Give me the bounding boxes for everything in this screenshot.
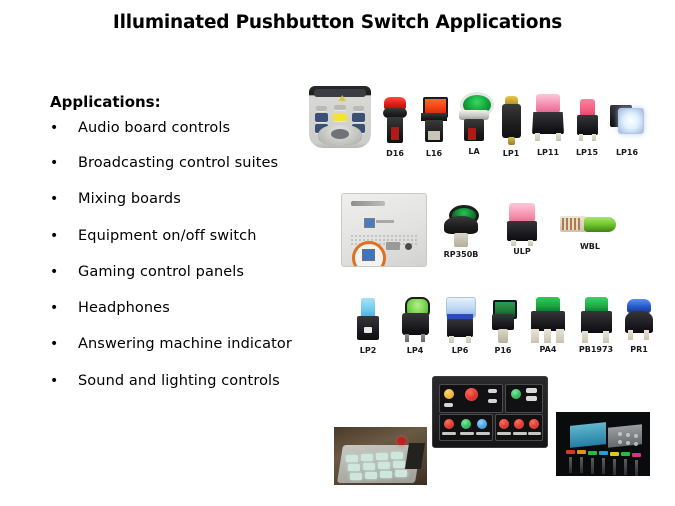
switch-terminal [579, 134, 583, 141]
switch-terminal [508, 137, 515, 145]
switch-terminal [556, 133, 561, 141]
switch-thread [498, 329, 508, 343]
keypad-key [393, 461, 405, 468]
list-item: • Gaming control panels [50, 263, 350, 299]
switch-terminal [556, 329, 564, 343]
mixer-knob [634, 442, 638, 446]
console-indicator [526, 396, 537, 401]
switch-body [444, 216, 478, 234]
console-label-strip [497, 432, 511, 435]
keypad-key [348, 464, 360, 471]
list-item-label: Broadcasting control suites [78, 154, 278, 172]
mixer-fader [635, 460, 638, 476]
mixer-channel-light [588, 451, 597, 455]
console-label-strip [460, 432, 474, 435]
wall-plate-photo [341, 193, 427, 267]
mixer-fader [602, 458, 605, 474]
remote-key [353, 106, 364, 111]
wall-plate-port [386, 242, 400, 250]
switch-cap [509, 203, 535, 222]
switch-body [532, 112, 564, 134]
console-lamp-amber [444, 389, 454, 399]
console-lamp-red [499, 419, 509, 429]
console-lamp-red [514, 419, 524, 429]
bullet-icon: • [50, 154, 60, 172]
product-label: LP15 [576, 148, 598, 157]
list-item: • Audio board controls [50, 119, 350, 154]
console-indicator [444, 403, 453, 407]
remote-top-strip [314, 89, 366, 97]
switch-body [502, 104, 521, 138]
product-figure: LP1 [498, 96, 524, 165]
keypad-key [346, 455, 358, 462]
mixer-channel-light [577, 450, 586, 454]
product-figure: LP4 [398, 297, 432, 358]
applications-list: • Audio board controls • Broadcasting co… [50, 119, 350, 408]
product-label: LP6 [452, 346, 469, 355]
product-label: PA4 [540, 345, 557, 354]
console-lamp-red-large [465, 388, 478, 401]
list-item: • Headphones [50, 299, 350, 335]
mixer-knob [634, 434, 638, 438]
mixer-fader [591, 458, 594, 474]
mixer-display [570, 422, 606, 448]
product-figure: LP6 [441, 297, 479, 358]
product-label: D16 [386, 149, 404, 158]
switch-terminal [644, 330, 649, 340]
mixer-fader [624, 459, 627, 475]
remote-key-highlighted [333, 113, 347, 121]
product-figure: LP2 [352, 298, 384, 358]
product-figure: D16 [380, 97, 410, 165]
console-indicator [488, 399, 497, 403]
switch-body [577, 115, 598, 135]
list-item: • Broadcasting control suites [50, 154, 350, 190]
switch-terminal [466, 336, 471, 343]
product-figure: PB1973 [576, 297, 616, 358]
highlight-circle-icon [352, 241, 386, 267]
product-label: WBL [580, 242, 600, 251]
keypad-key [365, 472, 377, 479]
handheld-remote-photo [309, 86, 371, 148]
mixer-fader [569, 457, 572, 473]
list-item: • Answering machine indicator [50, 335, 350, 371]
bullet-icon: • [50, 119, 60, 137]
mixer-knob [626, 433, 630, 437]
mixer-channel-light [632, 453, 641, 457]
keypad-key [395, 470, 407, 477]
product-figure: LP16 [608, 103, 646, 165]
product-figure: WBL [560, 212, 620, 262]
list-item-label: Audio board controls [78, 119, 230, 137]
mixer-knob [618, 440, 622, 444]
remote-key [316, 106, 327, 111]
product-label: LP1 [503, 149, 520, 158]
console-lamp-red [444, 419, 454, 429]
product-figure: L16 [418, 95, 450, 165]
bullet-icon: • [50, 299, 60, 317]
mixer-channel-light [599, 451, 608, 455]
product-figure: LA [456, 92, 492, 165]
applications-heading-label: Applications [50, 93, 155, 111]
remote-wheel [318, 124, 363, 146]
keypad-key [376, 453, 388, 460]
switch-terminal [405, 334, 409, 342]
console-lamp-green [461, 419, 471, 429]
mixer-fader [613, 459, 616, 475]
product-label: RP350B [444, 250, 479, 259]
product-label: LP2 [360, 346, 377, 355]
keypad-key [350, 473, 362, 480]
remote-wheel-center [331, 129, 349, 139]
console-panel-upper-right [505, 384, 543, 413]
remote-key [315, 113, 328, 122]
console-label-strip [513, 432, 527, 435]
product-label: P16 [495, 346, 512, 355]
bullet-icon: • [50, 227, 60, 245]
switch-terminal [592, 134, 596, 141]
remote-key [352, 113, 365, 122]
wall-plate-illuminated-button [362, 249, 375, 261]
keypad-key [380, 471, 392, 478]
keypad-red-button [397, 437, 406, 445]
control-console-photo [432, 376, 548, 448]
wall-plate-text [376, 220, 394, 223]
switch-cap [618, 108, 644, 134]
list-item: • Mixing boards [50, 190, 350, 226]
applications-heading: Applications: [50, 93, 161, 111]
switch-terminal [544, 329, 551, 343]
console-lamp-red [529, 419, 539, 429]
remote-key [334, 105, 346, 110]
switch-window [364, 327, 372, 333]
switch-terminal [531, 329, 539, 343]
mixer-knob [618, 432, 622, 436]
switch-body [402, 313, 429, 335]
console-lamp-blue [477, 419, 487, 429]
product-label: LP4 [407, 346, 424, 355]
product-figure: PR1 [622, 299, 656, 358]
console-label-strip [442, 432, 456, 435]
switch-terminal [628, 330, 633, 340]
slide-canvas: Illuminated Pushbutton Switch Applicatio… [0, 0, 675, 506]
switch-thread [454, 233, 468, 247]
switch-body [507, 221, 537, 241]
list-item: • Sound and lighting controls [50, 372, 350, 408]
switch-cap [584, 217, 616, 232]
product-label: LA [468, 147, 479, 156]
product-figure: LP15 [572, 99, 602, 165]
list-item-label: Headphones [78, 299, 170, 317]
product-label: LP11 [537, 148, 559, 157]
keypad-key [378, 462, 390, 469]
product-figure: LP11 [530, 94, 566, 165]
list-item: • Equipment on/off switch [50, 227, 350, 263]
bullet-icon: • [50, 335, 60, 353]
mixer-knob [626, 441, 630, 445]
switch-terminal [528, 240, 533, 246]
switch-body [447, 319, 473, 337]
product-figure: P16 [487, 300, 519, 358]
product-label: PB1973 [579, 345, 613, 354]
switch-terminal [421, 334, 425, 342]
switch-pins [562, 218, 580, 230]
switch-terminal [449, 336, 454, 343]
product-label: PR1 [630, 345, 648, 354]
switch-body [492, 314, 514, 330]
switch-terminal [582, 331, 588, 343]
console-label-strip [476, 432, 490, 435]
product-figure: PA4 [527, 297, 569, 358]
bullet-icon: • [50, 372, 60, 390]
console-indicator [526, 388, 537, 393]
product-label: ULP [513, 247, 530, 256]
switch-body [581, 311, 612, 333]
desk-control-panel-photo [334, 427, 427, 485]
product-label: LP16 [616, 148, 638, 157]
wall-plate-knob [405, 243, 412, 250]
keypad-key [363, 463, 375, 470]
switch-terminal [428, 131, 440, 140]
switch-terminal [511, 240, 516, 246]
console-label-strip [528, 432, 541, 435]
list-item-label: Gaming control panels [78, 263, 244, 281]
list-item-label: Equipment on/off switch [78, 227, 257, 245]
bullet-icon: • [50, 263, 60, 281]
keypad-key [391, 452, 403, 459]
switch-terminal [468, 128, 476, 140]
page-title: Illuminated Pushbutton Switch Applicatio… [0, 12, 675, 33]
wall-plate-button [364, 218, 375, 228]
bullet-icon: • [50, 190, 60, 208]
list-item-label: Mixing boards [78, 190, 181, 208]
product-figure: RP350B [440, 205, 482, 263]
mixing-console-photo [556, 412, 650, 476]
switch-terminal [391, 127, 399, 140]
console-lamp-green [511, 389, 521, 399]
keypad-side-module [405, 443, 425, 469]
product-figure: ULP [503, 203, 541, 263]
applications-heading-colon: : [155, 93, 161, 111]
list-item-label: Sound and lighting controls [78, 372, 280, 390]
mixer-channel-light [621, 452, 630, 456]
keypad-key [361, 454, 373, 461]
mixer-channel-light [566, 450, 575, 454]
console-indicator [488, 389, 497, 393]
brand-logo [351, 201, 385, 206]
list-item-label: Answering machine indicator [78, 335, 292, 353]
product-label: L16 [426, 149, 442, 158]
mixer-channel-light [610, 452, 619, 456]
switch-body [531, 311, 565, 331]
switch-terminal [535, 133, 540, 141]
switch-cap [536, 94, 560, 113]
switch-terminal [603, 331, 609, 343]
mixer-fader [580, 457, 583, 473]
